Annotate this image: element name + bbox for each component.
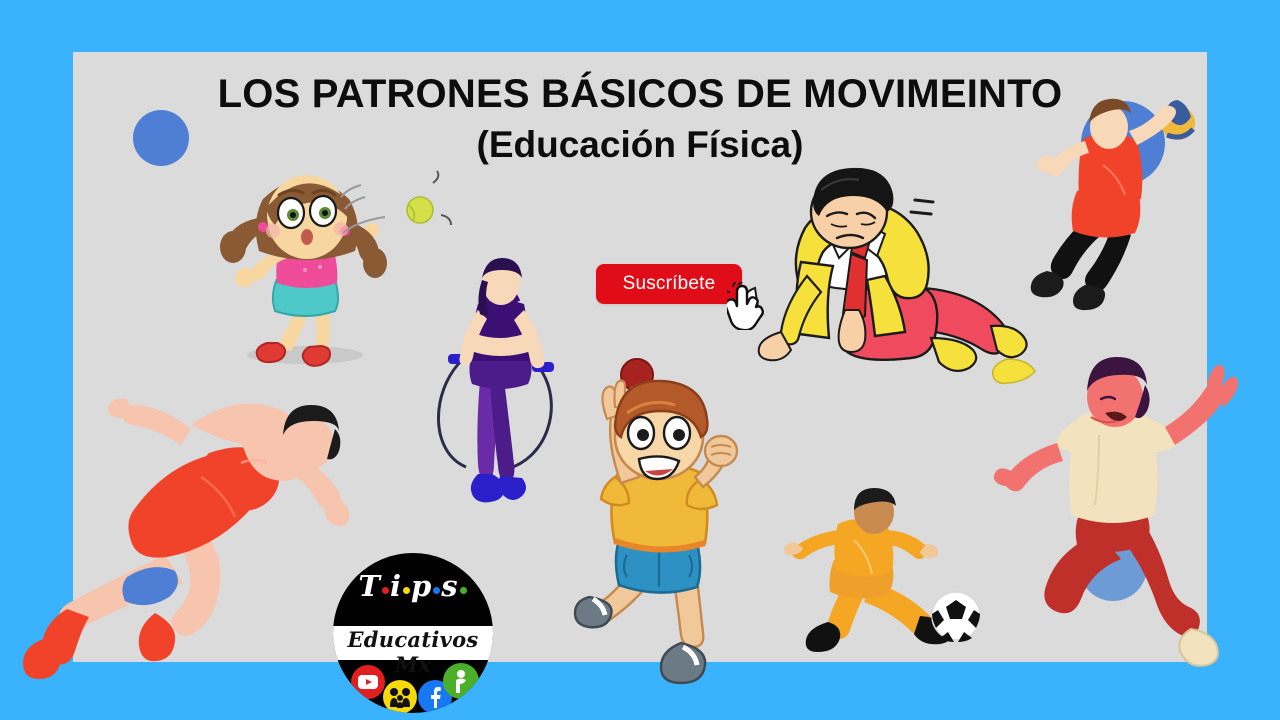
channel-logo[interactable]: Tips Educativos Mx [333,553,493,713]
logo-letter-i: i [390,569,402,603]
logo-dot-yellow [403,587,410,594]
logo-social-row [333,663,493,709]
subscribe-button[interactable]: Suscríbete [596,264,742,304]
logo-letter-s: s [441,569,458,603]
logo-letter-p: p [411,569,432,603]
girl-throwing-ball [205,155,455,370]
logo-dot-green [460,587,467,594]
woman-jumping-rope [428,262,578,517]
logo-letter-t: T [358,569,381,603]
pointing-hand-cursor-icon [727,282,767,330]
man-jumping-celebrating [995,355,1240,690]
logo-dot-blue [433,587,440,594]
logo-dot-red [382,587,389,594]
slide-canvas: LOS PATRONES BÁSICOS DE MOVIMEINTO (Educ… [0,0,1280,720]
youtube-icon[interactable] [351,665,385,699]
title-line-2: (Educación Física) [73,123,1207,167]
title-line-1: LOS PATRONES BÁSICOS DE MOVIMEINTO [73,72,1207,117]
green-person-icon[interactable] [443,663,479,699]
subscribe-button-label: Suscríbete [623,273,716,295]
logo-brand-top: Tips [333,569,493,603]
soccer-player-kicking [790,490,990,660]
sprinter-running [5,385,375,685]
page-title-block: LOS PATRONES BÁSICOS DE MOVIMEINTO (Educ… [73,72,1207,167]
boy-catching-ball [575,355,750,695]
family-group-icon[interactable] [383,680,417,713]
